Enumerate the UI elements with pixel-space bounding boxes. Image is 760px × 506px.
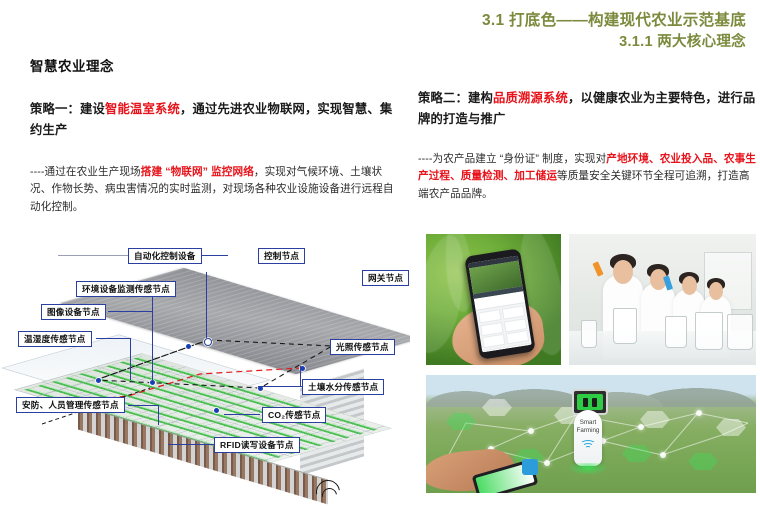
label-temp-humidity-sensor-node[interactable]: 温湿度传感节点 [18,331,92,347]
lab-flask-1 [613,308,637,344]
smartphone-screen [468,256,531,353]
detail-one-highlight: 搭建 “物联网” 监控网络 [141,166,254,178]
lab-flask-5 [727,314,753,350]
robot-face-screen [577,394,603,410]
screen-grid-cell [507,342,531,352]
right-text-column: 策略二：建构品质溯源系统，以健康农业为主要特色，进行品牌的打造与推广 ----为… [418,88,756,203]
strategy-two-paragraph: 策略二：建构品质溯源系统，以健康农业为主要特色，进行品牌的打造与推广 [418,88,756,130]
strategy-one-highlight: 智能温室系统 [105,102,180,116]
leader-image-v [152,311,153,381]
node-control [204,338,212,346]
detail-two-prefix: ----为农产品建立 “身份证” 制度，实现对 [418,153,606,165]
greenhouse-iot-diagram: 自动化控制设备 环境设备监测传感节点 图像设备节点 温湿度传感节点 安防、人员管… [0,228,410,506]
detail-one-prefix: ----通过在农业生产现场 [30,166,141,178]
header-line-1: 3.1 打底色——构建现代农业示范基底 [482,10,746,32]
strategy-two-prefix: 策略二：建构 [418,91,493,105]
strategy-one-paragraph: 策略一：建设智能温室系统，通过先进农业物联网，实现智慧、集约生产 [30,99,402,141]
lab-person-1-head [613,260,633,284]
lab-flask-3 [665,316,687,348]
field-node-2 [544,460,550,466]
field-node-7 [696,410,702,416]
node-environment [186,344,191,349]
robot-body: Smart Farming [574,410,602,466]
robot-eye-right [592,398,597,407]
photo-smart-farming: Smart Farming [426,375,756,493]
lab-flask-4 [695,312,723,350]
lab-person-4-head [709,282,723,300]
leader-temp-v [130,338,131,380]
slide-root: 3.1 打底色——构建现代农业示范基底 3.1.1 两大核心理念 智慧农业理念 … [0,0,760,506]
leader-security-h [128,405,158,406]
leader-image-h [108,311,152,312]
photo-laboratory [569,234,756,365]
label-automation-control-equipment[interactable]: 自动化控制设备 [128,248,202,264]
leader-security-v [158,405,159,425]
leader-automation-2 [200,255,228,256]
label-security-personnel-node[interactable]: 安防、人员管理传感节点 [16,397,125,413]
label-control-node[interactable]: 控制节点 [258,248,305,264]
leader-control-v [206,272,207,338]
robot-label-line-2: Farming [574,427,602,435]
leader-temp-h [96,338,130,339]
node-temp-humidity [96,378,101,383]
robot-base-glow [568,463,608,475]
leader-co2-h [224,414,260,415]
strategy-two-detail: ----为农产品建立 “身份证” 制度，实现对产地环境、农业投入品、农事生产过程… [418,151,756,202]
robot-label: Smart Farming [574,419,602,435]
node-co2 [214,408,219,413]
left-text-column: 智慧农业理念 策略一：建设智能温室系统，通过先进农业物联网，实现智慧、集约生产 … [30,55,402,216]
wifi-icon [581,440,595,450]
leader-soil-h [258,386,302,387]
leader-rfid-h [168,444,214,445]
robot-label-line-1: Smart [574,419,602,427]
label-soil-moisture-sensor-node[interactable]: 土壤水分传感节点 [302,379,384,395]
label-light-sensor-node[interactable]: 光照传感节点 [330,339,395,355]
label-gateway-node[interactable]: 网关节点 [362,270,409,286]
slide-header: 3.1 打底色——构建现代农业示范基底 3.1.1 两大核心理念 [482,10,746,53]
page-title: 智慧农业理念 [30,55,402,75]
label-co2-sensor-node[interactable]: CO₂传感节点 [262,407,326,423]
label-image-equipment-node[interactable]: 图像设备节点 [41,304,106,320]
strategy-one-detail: ----通过在农业生产现场搭建 “物联网” 监控网络，实现对气候环境、土壤状况、… [30,164,402,215]
strategy-two-highlight: 品质溯源系统 [493,91,568,105]
app-badge-icon [522,459,538,475]
lab-person-3-head [682,276,697,295]
leader-light-v [300,366,301,386]
label-environment-equipment-monitor-node[interactable]: 环境设备监测传感节点 [76,281,176,297]
smart-farming-robot: Smart Farming [568,389,608,475]
strategy-one-prefix: 策略一：建设 [30,102,105,116]
label-rfid-reader-node[interactable]: RFID读写设备节点 [214,437,300,453]
field-node-5 [528,428,534,434]
lab-flask-2 [581,320,597,348]
robot-eye-left [583,398,588,407]
header-line-2: 3.1.1 两大核心理念 [482,32,746,53]
photo-phone-field [426,234,561,365]
screen-sensor-grid [476,303,532,352]
field-node-6 [638,424,644,430]
field-node-4 [660,452,666,458]
